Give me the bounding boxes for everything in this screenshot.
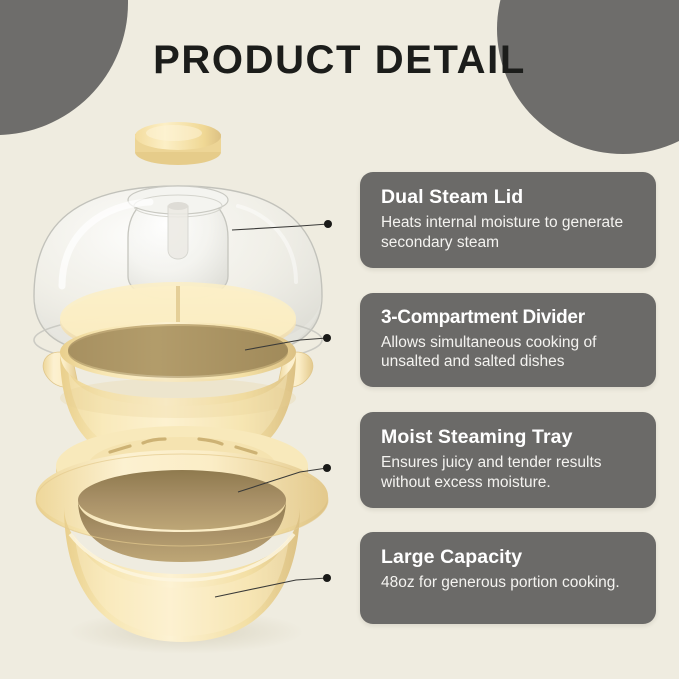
steam-valve xyxy=(168,206,188,259)
feature-card-list: Dual Steam Lid Heats internal moisture t… xyxy=(360,172,656,624)
feature-card-3-compartment-divider[interactable]: 3-Compartment Divider Allows simultaneou… xyxy=(360,293,656,388)
feature-description: 48oz for generous portion cooking. xyxy=(381,573,639,593)
product-illustration xyxy=(0,0,360,679)
feature-card-large-capacity[interactable]: Large Capacity 48oz for generous portion… xyxy=(360,532,656,624)
feature-title: 3-Compartment Divider xyxy=(381,307,639,329)
feature-card-moist-steaming-tray[interactable]: Moist Steaming Tray Ensures juicy and te… xyxy=(360,412,656,508)
part-base-bowl xyxy=(36,450,328,642)
feature-title: Moist Steaming Tray xyxy=(381,426,639,449)
feature-description: Ensures juicy and tender results without… xyxy=(381,453,639,493)
feature-title: Large Capacity xyxy=(381,546,639,569)
part-top-cap xyxy=(135,122,221,165)
feature-description: Heats internal moisture to generate seco… xyxy=(381,213,639,253)
page-title: PRODUCT DETAIL xyxy=(0,38,679,83)
feature-description: Allows simultaneous cooking of unsalted … xyxy=(381,333,639,373)
feature-title: Dual Steam Lid xyxy=(381,186,639,209)
feature-card-dual-steam-lid[interactable]: Dual Steam Lid Heats internal moisture t… xyxy=(360,172,656,268)
infographic-canvas: PRODUCT DETAIL xyxy=(0,0,679,679)
